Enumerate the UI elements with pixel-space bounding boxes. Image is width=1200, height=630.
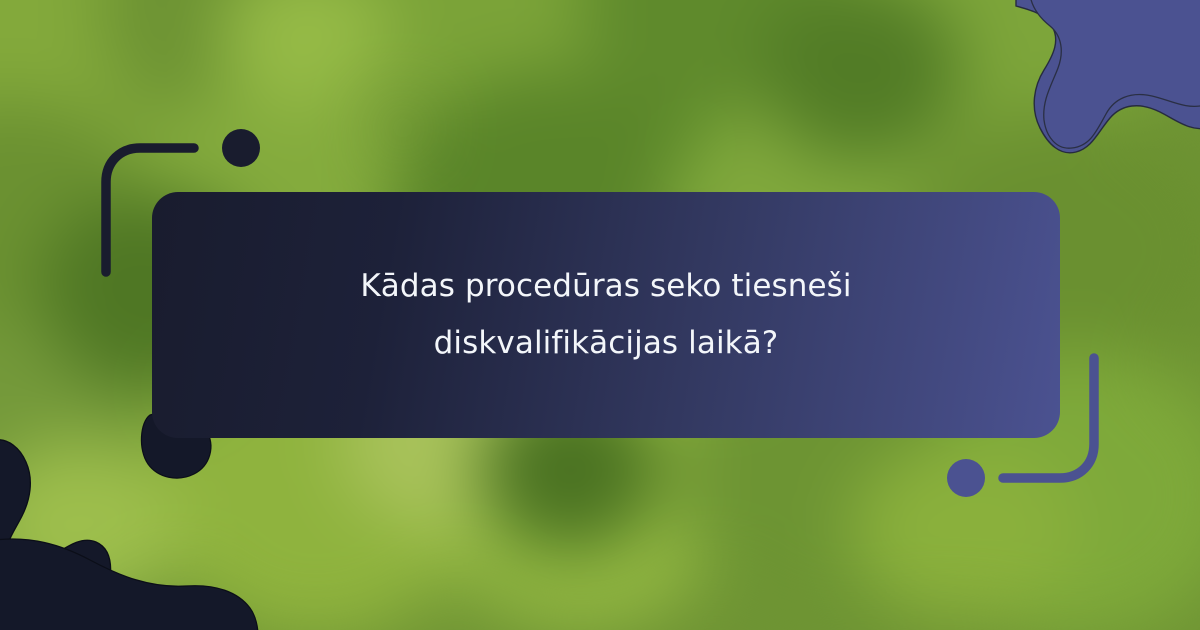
question-title: Kādas procedūras seko tiesneši diskvalif… [306,258,906,373]
screenshot-canvas: Kādas procedūras seko tiesneši diskvalif… [0,0,1200,630]
bokeh-blob [850,440,1080,620]
question-card: Kādas procedūras seko tiesneši diskvalif… [152,192,1060,438]
